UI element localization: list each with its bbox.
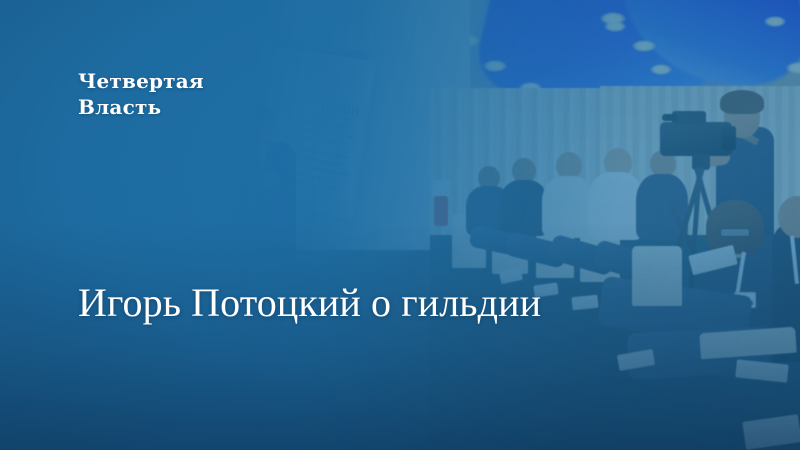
- site-logo[interactable]: Четвертая Власть: [78, 68, 204, 120]
- social-share-card: Четвертая Власть Игорь Потоцкий о гильди…: [0, 0, 800, 450]
- headline-line-1: Игорь Потоцкий о гильдии: [78, 274, 768, 331]
- article-headline[interactable]: Игорь Потоцкий о гильдии СМИ при саратов…: [78, 160, 768, 450]
- site-logo-line2: Власть: [78, 94, 204, 120]
- card-content: Четвертая Власть Игорь Потоцкий о гильди…: [0, 0, 800, 450]
- headline-line-2: СМИ при саратовской ТПП:: [78, 445, 768, 450]
- site-logo-line1: Четвертая: [78, 69, 204, 93]
